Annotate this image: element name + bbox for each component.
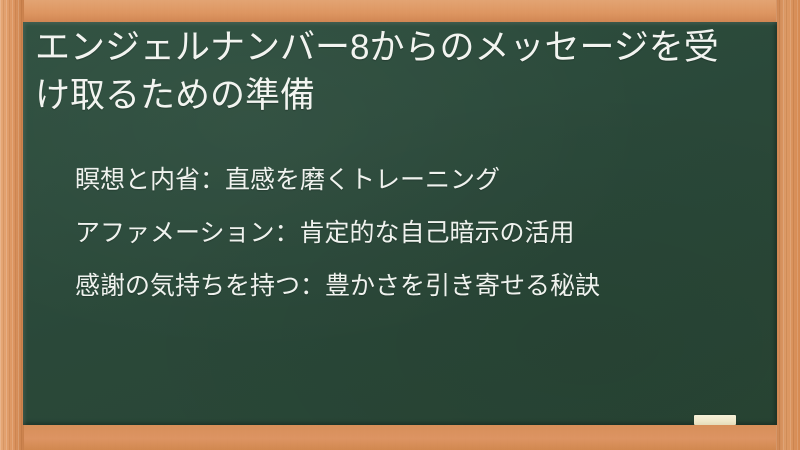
slide-bullet-list: 瞑想と内省：直感を磨くトレーニング アファメーション：肯定的な自己暗示の活用 感… <box>37 154 757 313</box>
frame-rail-left <box>0 0 24 450</box>
list-item: 瞑想と内省：直感を磨くトレーニング <box>37 154 757 207</box>
chalkboard: エンジェルナンバー8からのメッセージを受け取るための準備 瞑想と内省：直感を磨く… <box>23 22 777 425</box>
slide-title: エンジェルナンバー8からのメッセージを受け取るための準備 <box>35 24 735 120</box>
frame-rail-bottom <box>0 425 800 450</box>
list-item: 感謝の気持ちを持つ：豊かさを引き寄せる秘訣 <box>37 260 757 313</box>
chalkboard-surface: エンジェルナンバー8からのメッセージを受け取るための準備 瞑想と内省：直感を磨く… <box>23 22 777 425</box>
chalkboard-slide: エンジェルナンバー8からのメッセージを受け取るための準備 瞑想と内省：直感を磨く… <box>0 0 800 450</box>
frame-rail-right <box>776 0 800 450</box>
frame-rail-top <box>0 0 800 22</box>
list-item: アファメーション：肯定的な自己暗示の活用 <box>37 207 757 260</box>
chalk-stick-icon <box>694 415 736 425</box>
